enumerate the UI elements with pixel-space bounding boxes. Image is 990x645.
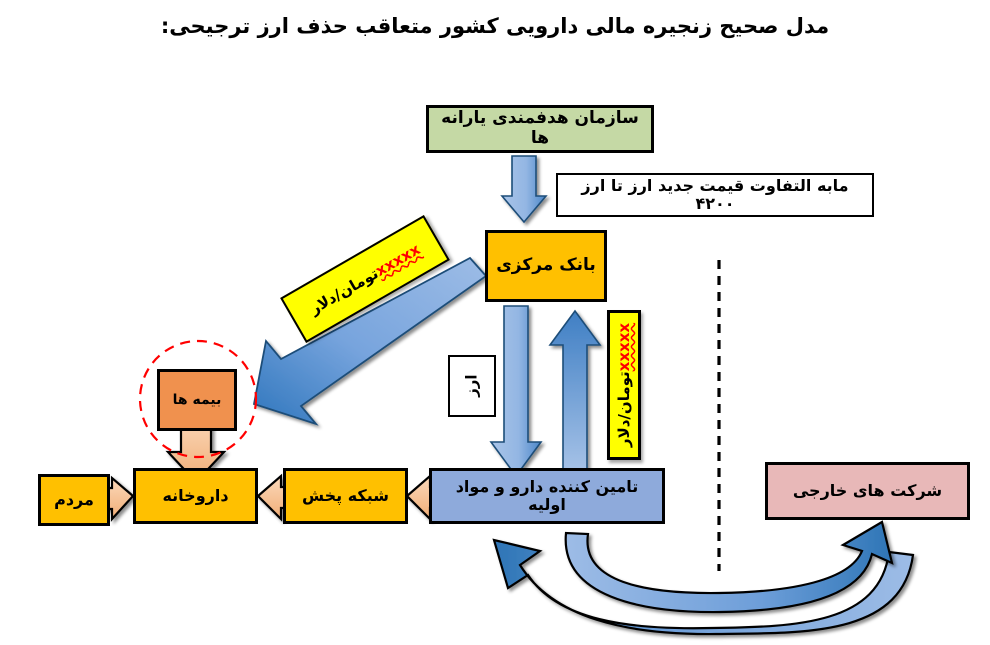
- node-subsidy-organization[interactable]: سازمان هدفمندی یارانه ها: [426, 105, 654, 153]
- callout-rate-vertical-amount: xxxxx: [615, 323, 633, 371]
- node-subsidy-organization-label: سازمان هدفمندی یارانه ها: [434, 109, 646, 148]
- node-central-bank[interactable]: بانک مرکزی: [485, 230, 607, 302]
- node-central-bank-label: بانک مرکزی: [496, 256, 596, 276]
- node-currency-label: ارز: [463, 375, 480, 397]
- arrow-foreign-to-supplier-curve: [494, 540, 913, 634]
- node-supplier-label: تامین کننده دارو و مواد اولیه: [437, 478, 657, 515]
- node-people-label: مردم: [54, 491, 94, 509]
- connectors-layer: [0, 0, 990, 645]
- arrow-supplier-to-bank: [550, 311, 600, 476]
- node-price-difference[interactable]: مابه التفاوت قیمت جدید ارز تا ارز ۴۲۰۰: [556, 173, 874, 217]
- callout-exchange-rate-vertical[interactable]: xxxxxتومان/دلار: [607, 310, 641, 460]
- node-price-difference-label: مابه التفاوت قیمت جدید ارز تا ارز ۴۲۰۰: [563, 177, 867, 214]
- diagram-canvas: مدل صحیح زنجیره مالی دارویی کشور متعاقب …: [0, 0, 990, 645]
- node-distribution-network-label: شبکه پخش: [302, 487, 389, 505]
- node-foreign-companies-label: شرکت های خارجی: [793, 482, 942, 500]
- callout-exchange-rate-diagonal[interactable]: xxxxxتومان/دلار: [280, 215, 450, 343]
- callout-rate-diagonal-amount: xxxxx: [372, 240, 423, 280]
- node-currency[interactable]: ارز: [448, 355, 496, 417]
- arrow-bank-to-supplier: [491, 306, 541, 476]
- page-title: مدل صحیح زنجیره مالی دارویی کشور متعاقب …: [0, 14, 990, 38]
- callout-rate-diagonal-unit: تومان/دلار: [307, 264, 382, 317]
- node-people[interactable]: مردم: [38, 474, 110, 526]
- node-supplier[interactable]: تامین کننده دارو و مواد اولیه: [429, 468, 665, 524]
- node-distribution-network[interactable]: شبکه پخش: [283, 468, 408, 524]
- node-insurance-label: بیمه ها: [173, 392, 222, 408]
- node-pharmacy-label: داروخانه: [162, 487, 228, 505]
- node-foreign-companies[interactable]: شرکت های خارجی: [765, 462, 970, 520]
- arrow-supplier-to-foreign-curve: [566, 522, 892, 612]
- callout-rate-vertical-unit: تومان/دلار: [615, 371, 633, 447]
- node-pharmacy[interactable]: داروخانه: [133, 468, 258, 524]
- arrow-subsidy-to-bank: [502, 156, 546, 222]
- node-insurance[interactable]: بیمه ها: [157, 369, 237, 431]
